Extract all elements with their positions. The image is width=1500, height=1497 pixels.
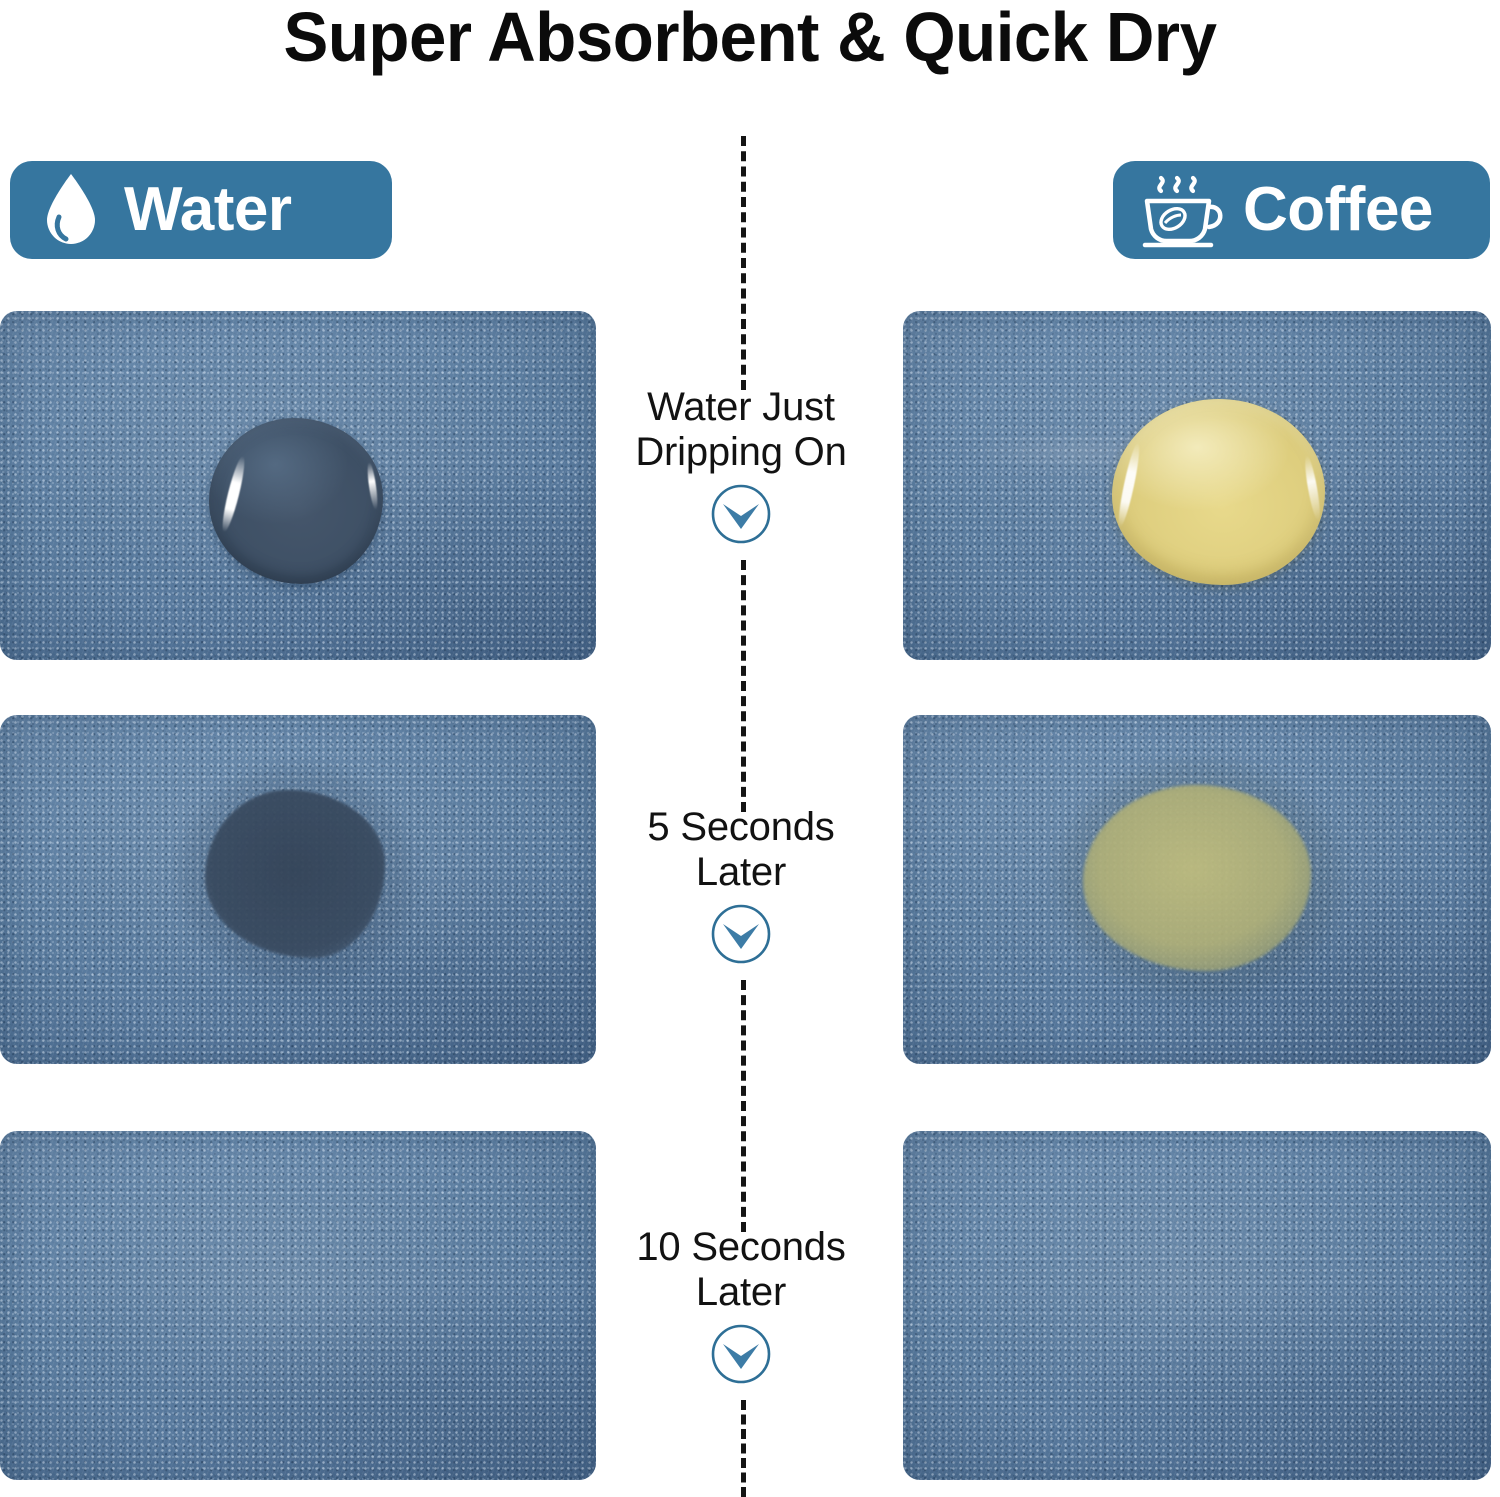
coffee-absorbed-stain (1083, 785, 1311, 971)
step-1-line-1: Water Just (590, 385, 892, 430)
page-title: Super Absorbent & Quick Dry (30, 0, 1470, 78)
chevron-down-circle-icon (710, 903, 772, 965)
fabric-swatch-water-stage3 (0, 1131, 596, 1480)
step-1-line-2: Dripping On (590, 430, 892, 475)
center-divider-segment (741, 980, 746, 1232)
center-divider-segment (741, 560, 746, 812)
coffee-badge-label: Coffee (1243, 179, 1433, 241)
coffee-droplet-bead (1112, 399, 1325, 585)
fabric-vignette (0, 1131, 596, 1480)
step-2-line-2: Later (590, 850, 892, 895)
center-divider-segment (741, 136, 746, 390)
step-2-line-1: 5 Seconds (590, 805, 892, 850)
center-divider-segment (741, 1400, 746, 1497)
coffee-cup-icon (1139, 171, 1231, 249)
fabric-swatch-coffee-stage3 (903, 1131, 1491, 1480)
step-label-2: 5 Seconds Later (590, 805, 892, 965)
water-badge-label: Water (124, 179, 291, 241)
step-label-3: 10 Seconds Later (590, 1225, 892, 1385)
chevron-down-circle-icon (710, 1323, 772, 1385)
water-badge: Water (10, 161, 392, 259)
fabric-vignette (903, 1131, 1491, 1480)
step-3-line-1: 10 Seconds (590, 1225, 892, 1270)
chevron-down-circle-icon (710, 483, 772, 545)
step-label-1: Water Just Dripping On (590, 385, 892, 545)
coffee-badge: Coffee (1113, 161, 1490, 259)
water-drop-icon (40, 172, 102, 248)
step-3-line-2: Later (590, 1270, 892, 1315)
